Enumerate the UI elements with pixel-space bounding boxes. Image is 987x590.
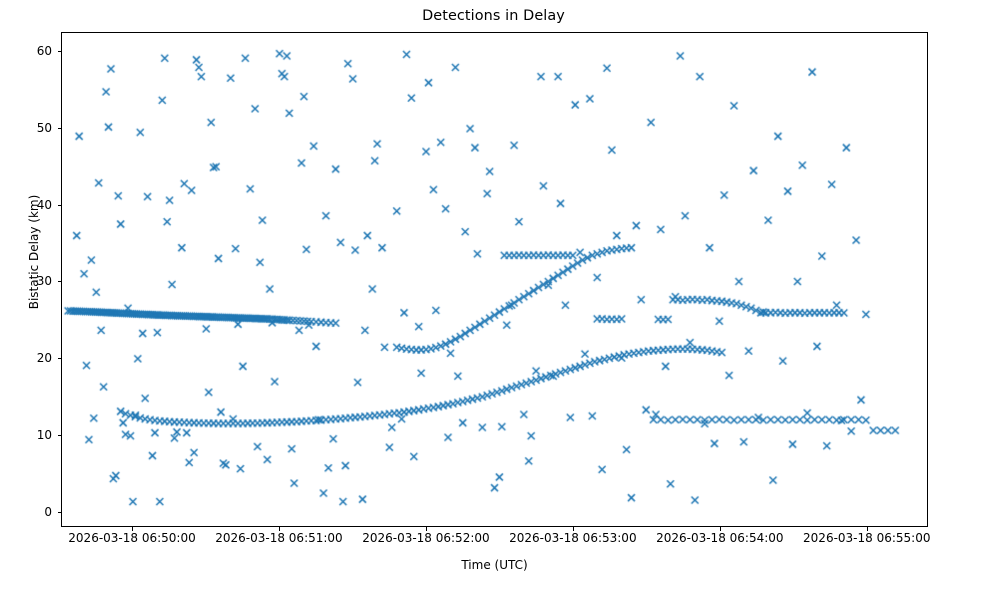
y-axis-tick-labels: 0102030405060 xyxy=(0,32,52,527)
x-tick-mark xyxy=(720,527,721,531)
x-tick-mark xyxy=(573,527,574,531)
x-tick-mark xyxy=(132,527,133,531)
x-tick-mark xyxy=(279,527,280,531)
x-tick-label: 2026-03-18 06:55:00 xyxy=(803,531,930,545)
scatter-plot-canvas xyxy=(62,33,927,526)
y-tick-label: 0 xyxy=(44,505,52,519)
y-tick-mark xyxy=(58,512,62,513)
y-tick-mark xyxy=(58,51,62,52)
x-tick-mark xyxy=(426,527,427,531)
x-tick-label: 2026-03-18 06:54:00 xyxy=(656,531,783,545)
y-tick-mark xyxy=(58,205,62,206)
plot-axes xyxy=(61,32,928,527)
y-tick-mark xyxy=(58,358,62,359)
y-axis-label: Bistatic Delay (km) xyxy=(27,112,41,392)
x-tick-label: 2026-03-18 06:53:00 xyxy=(509,531,636,545)
matplotlib-figure: Detections in Delay 0102030405060 2026-0… xyxy=(0,0,987,590)
y-tick-label: 10 xyxy=(37,428,52,442)
y-tick-mark xyxy=(58,281,62,282)
x-axis-label: Time (UTC) xyxy=(61,558,928,572)
y-tick-mark xyxy=(58,435,62,436)
x-tick-label: 2026-03-18 06:51:00 xyxy=(215,531,342,545)
x-tick-mark xyxy=(867,527,868,531)
x-tick-label: 2026-03-18 06:52:00 xyxy=(362,531,489,545)
x-tick-label: 2026-03-18 06:50:00 xyxy=(68,531,195,545)
y-tick-label: 60 xyxy=(37,44,52,58)
page-title: Detections in Delay xyxy=(0,8,987,24)
x-axis-tick-labels: 2026-03-18 06:50:002026-03-18 06:51:0020… xyxy=(61,531,928,553)
y-tick-mark xyxy=(58,128,62,129)
